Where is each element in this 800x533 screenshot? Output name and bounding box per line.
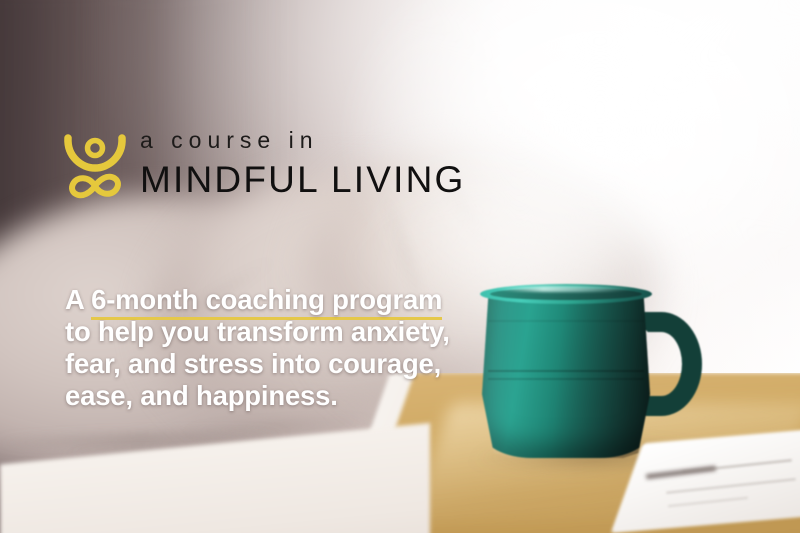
headline-line4-end: . (330, 380, 337, 411)
headline-underlined-phrase: 6-month coaching program (91, 284, 442, 320)
headline-line-2: to help you transform anxiety, (65, 316, 485, 348)
meditating-figure-infinity-icon (62, 124, 128, 204)
headline-line1-prefix: A (65, 284, 91, 315)
headline-emphasis-courage: courage (328, 348, 434, 379)
teal-ceramic-mug (482, 286, 702, 461)
brand-kicker: a course in (140, 129, 465, 152)
headline-line4-mid: , and (125, 380, 196, 411)
mug-body-shading (482, 290, 650, 458)
mug-rim-highlight (494, 286, 634, 292)
promo-banner: a course in MINDFUL LIVING A 6-month coa… (0, 0, 800, 533)
headline-line-4: ease, and happiness. (65, 380, 485, 412)
brand-logo-lockup: a course in MINDFUL LIVING (62, 124, 465, 204)
headline-line-1: A 6-month coaching program (65, 284, 485, 316)
headline-copy: A 6-month coaching program to help you t… (65, 284, 485, 412)
table-front-face (0, 423, 430, 533)
headline-line3-comma: , (434, 348, 441, 379)
background-photo (0, 0, 800, 533)
brand-title: MINDFUL LIVING (140, 161, 465, 198)
headline-line3-text: fear, and stress into (65, 348, 328, 379)
brand-wordmark: a course in MINDFUL LIVING (140, 129, 465, 200)
headline-emphasis-happiness: happiness (196, 380, 330, 411)
headline-emphasis-ease: ease (65, 380, 125, 411)
headline-line-3: fear, and stress into courage, (65, 348, 485, 380)
